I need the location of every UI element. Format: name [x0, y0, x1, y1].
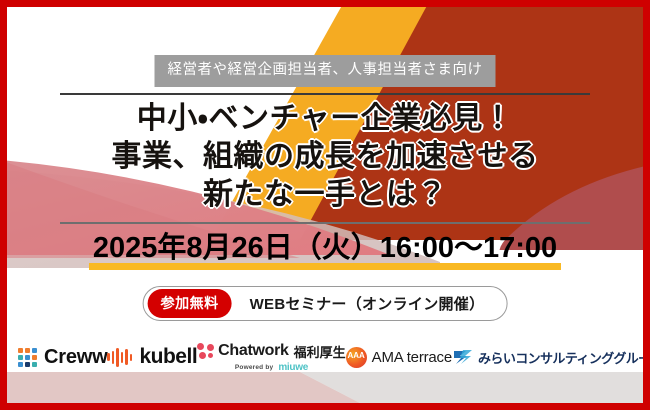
free-entry-badge: 参加無料 — [148, 289, 232, 318]
seminar-format-pill[interactable]: 参加無料 WEBセミナー（オンライン開催） — [143, 286, 508, 321]
chatwork-powered-brand: miuwe — [278, 362, 308, 373]
audience-tag: 経営者や経営企画担当者、人事担当者さま向け — [155, 55, 496, 87]
creww-wordmark: Creww — [44, 346, 107, 369]
chatwork-wordmark: Chatwork — [218, 342, 289, 360]
logo-ama-terrace: AAA AMA terrace — [346, 347, 452, 368]
ama-terrace-wordmark: AMA terrace — [372, 349, 452, 366]
webinar-banner: 経営者や経営企画担当者、人事担当者さま向け 中小・ベンチャー企業必見！ 事業、組… — [0, 0, 650, 410]
seminar-format-label: WEBセミナー（オンライン開催） — [250, 293, 485, 314]
ama-terrace-badge-icon: AAA — [346, 347, 367, 368]
logo-chatwork: Chatwork 福利厚生 Powered by miuwe — [197, 342, 346, 373]
chatwork-clover-icon — [197, 343, 214, 359]
kubell-waveform-icon — [107, 348, 134, 367]
headline-line-2: 事業、組織の成長を加速させる — [0, 138, 650, 176]
logo-mirai-consulting: みらいコンサルティンググループ — [452, 348, 650, 367]
headline-line-1: 中小・ベンチャー企業必見！ — [0, 100, 650, 138]
date-highlight — [89, 263, 561, 270]
kubell-wordmark: kubell — [139, 345, 197, 369]
sponsor-logo-strip: Creww kubell Ch — [8, 336, 642, 378]
creww-grid-icon — [18, 348, 37, 367]
divider-bottom — [60, 222, 590, 224]
event-datetime: 2025年8月26日（火）16:00〜17:00 — [0, 228, 650, 272]
mirai-swoosh-icon — [452, 349, 474, 366]
mirai-wordmark: みらいコンサルティンググループ — [478, 348, 650, 367]
page-title: 中小・ベンチャー企業必見！ 事業、組織の成長を加速させる 新たな一手とは？ — [0, 100, 650, 214]
logo-kubell: kubell — [107, 345, 197, 369]
chatwork-subtitle: 福利厚生 — [294, 342, 346, 361]
headline-line-3: 新たな一手とは？ — [0, 176, 650, 214]
divider-top — [60, 93, 590, 95]
event-datetime-text: 2025年8月26日（火）16:00〜17:00 — [93, 232, 557, 264]
logo-creww: Creww — [18, 346, 107, 369]
chatwork-powered-label: Powered by — [235, 364, 273, 371]
ama-terrace-mark-text: AAA — [346, 352, 367, 360]
